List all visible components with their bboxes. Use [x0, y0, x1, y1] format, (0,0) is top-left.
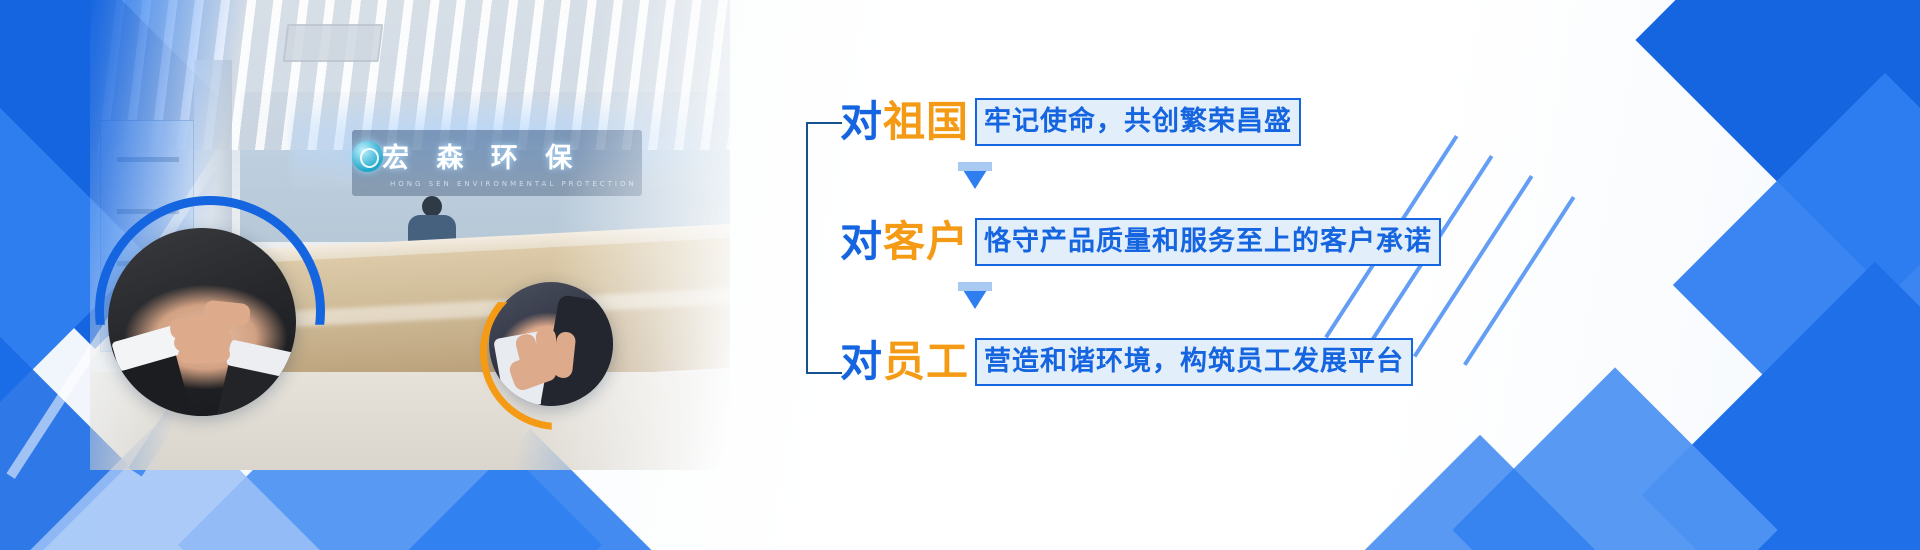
company-name-sign: 宏 森 环 保	[382, 139, 640, 179]
decor-shape-bottom-right-c	[1360, 435, 1600, 550]
slogan-kicker-prefix-1: 对	[840, 97, 883, 146]
bracket-connector-icon	[806, 122, 842, 374]
slogan-text-3: 营造和谐环境，构筑员工发展平台	[975, 338, 1413, 386]
down-arrow-icon	[958, 162, 992, 189]
company-logo-icon	[352, 141, 383, 172]
slogan-kicker-highlight-2: 客户	[883, 217, 969, 266]
slogan-kicker-highlight-3: 员工	[883, 337, 969, 386]
promo-banner: 宏 森 环 保 HONG SEN ENVIRONMENTAL PROTECTIO…	[0, 0, 1920, 550]
decor-shape-top-right-b	[1673, 73, 1920, 497]
slogan-kicker-prefix-3: 对	[840, 337, 883, 386]
slogan-row-3: 对员工 营造和谐环境，构筑员工发展平台	[840, 336, 1413, 388]
ceiling-vent-icon	[283, 24, 384, 62]
slogan-kicker-3: 对员工	[840, 341, 969, 383]
slogan-row-1: 对祖国 牢记使命，共创繁荣昌盛	[840, 96, 1301, 148]
slogan-kicker-1: 对祖国	[840, 101, 969, 143]
decor-shape-bottom-right-a	[1642, 262, 1920, 550]
slogan-text-1: 牢记使命，共创繁荣昌盛	[975, 98, 1301, 146]
down-arrow-icon	[958, 282, 992, 309]
decor-shape-top-right-a	[1635, 0, 1920, 295]
slogan-kicker-2: 对客户	[840, 221, 969, 263]
slogan-text-2: 恪守产品质量和服务至上的客户承诺	[975, 218, 1441, 266]
slogan-group: 对祖国 牢记使命，共创繁荣昌盛 对客户 恪守产品质量和服务至上的客户承诺 对员工…	[806, 86, 1606, 386]
company-name-sign-subtext: HONG SEN ENVIRONMENTAL PROTECTION	[390, 180, 640, 188]
decor-shape-bottom-right-b	[1452, 367, 1777, 550]
slogan-kicker-prefix-2: 对	[840, 217, 883, 266]
slogan-kicker-highlight-1: 祖国	[883, 97, 969, 146]
slogan-row-2: 对客户 恪守产品质量和服务至上的客户承诺	[840, 216, 1441, 268]
